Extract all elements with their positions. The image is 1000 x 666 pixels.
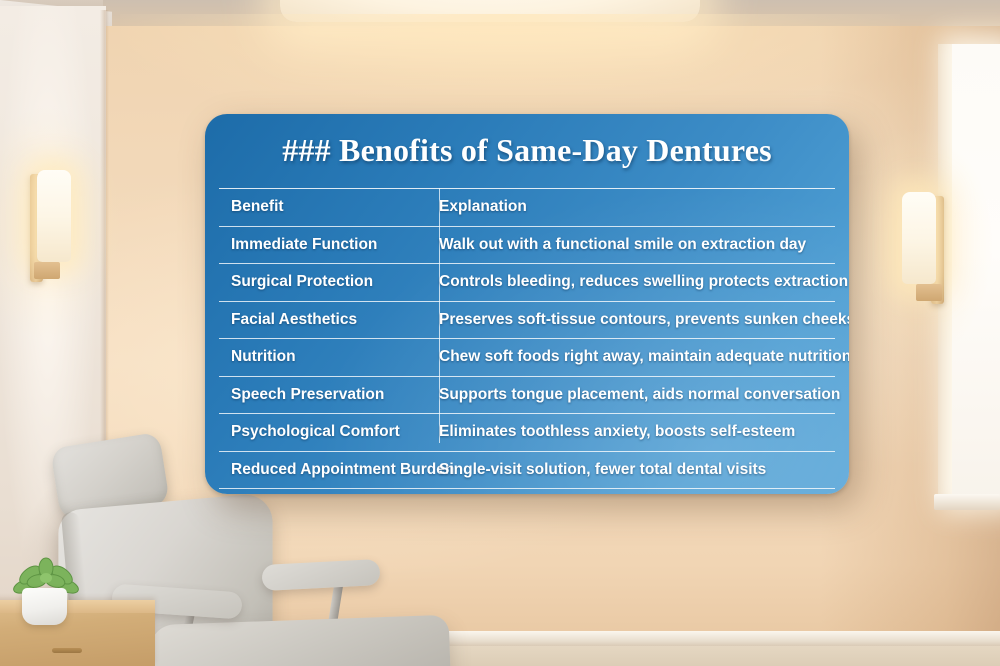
- cabinet-drawer-handle: [52, 648, 82, 653]
- plant-pot: [22, 588, 67, 625]
- sconce-left-base: [34, 262, 60, 279]
- table-row: Reduced Appointment Burden Single-visit …: [219, 451, 835, 490]
- cell-explanation: Walk out with a functional smile on extr…: [425, 236, 835, 254]
- cell-explanation: Supports tongue placement, aids normal c…: [425, 386, 840, 404]
- cell-explanation: Preserves soft-tissue contours, prevents…: [425, 311, 849, 329]
- recessed-ceiling-light: [280, 0, 700, 22]
- dental-office-scene: ### Benofits of Same-Day Dentures Benefi…: [0, 0, 1000, 666]
- cell-benefit: Speech Preservation: [219, 386, 425, 404]
- column-header-benefit: Benefit: [219, 198, 425, 216]
- table-row: Psychological Comfort Eliminates toothle…: [219, 413, 835, 451]
- cell-explanation: Controls bleeding, reduces swelling prot…: [425, 273, 849, 291]
- cell-explanation: Chew soft foods right away, maintain ade…: [425, 348, 849, 366]
- cell-benefit: Immediate Function: [219, 236, 425, 254]
- sconce-right-base: [916, 284, 942, 301]
- table-row: Facial Aesthetics Preserves soft-tissue …: [219, 301, 835, 339]
- cell-benefit: Nutrition: [219, 348, 425, 366]
- cell-explanation: Eliminates toothless anxiety, boosts sel…: [425, 423, 835, 441]
- table-row: Speech Preservation Supports tongue plac…: [219, 376, 835, 414]
- column-header-explanation: Explanation: [425, 198, 835, 216]
- cell-benefit: Reduced Appointment Burden: [219, 461, 433, 479]
- cell-benefit: Facial Aesthetics: [219, 311, 425, 329]
- table-header-row: Benefit Explanation: [219, 188, 835, 226]
- cell-benefit: Psychological Comfort: [219, 423, 425, 441]
- chair-armrest-right: [261, 559, 380, 591]
- sconce-right-shade: [902, 192, 936, 284]
- cell-explanation: Single-visit solution, fewer total denta…: [433, 461, 835, 479]
- panel-title: ### Benofits of Same-Day Dentures: [205, 132, 849, 169]
- table-row: Surgical Protection Controls bleeding, r…: [219, 263, 835, 301]
- table-row: Immediate Function Walk out with a funct…: [219, 226, 835, 264]
- sconce-left-shade: [37, 170, 71, 262]
- benefits-table: Benefit Explanation Immediate Function W…: [219, 188, 835, 489]
- table-row: Nutrition Chew soft foods right away, ma…: [219, 338, 835, 376]
- cell-benefit: Surgical Protection: [219, 273, 425, 291]
- window-sill: [934, 494, 1000, 510]
- benefits-info-panel: ### Benofits of Same-Day Dentures Benefi…: [205, 114, 849, 494]
